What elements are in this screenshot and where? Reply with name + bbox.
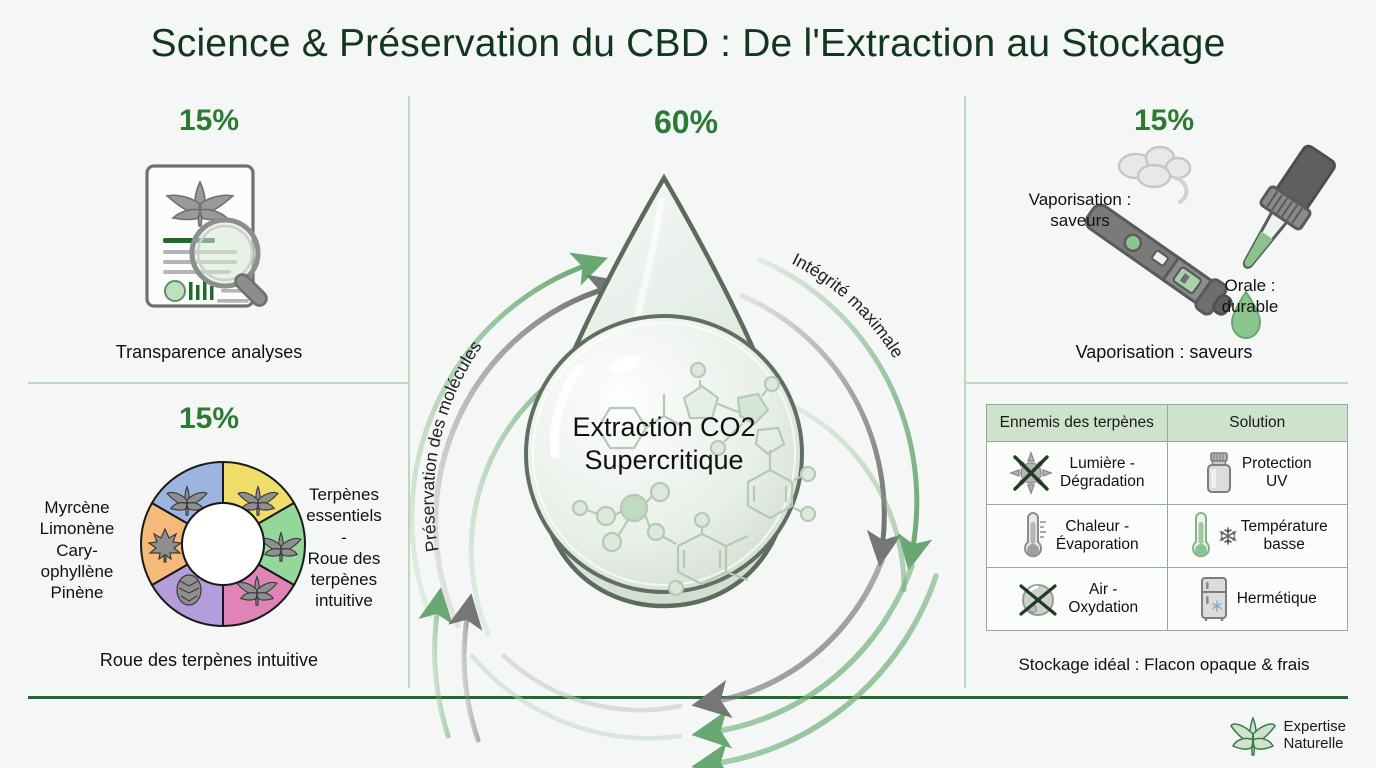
- fridge-icon: [1198, 575, 1230, 623]
- storage-caption: Stockage idéal : Flacon opaque & frais: [964, 655, 1364, 675]
- wheel-right-label: Terpènes essentiels - Roue des terpènes …: [280, 484, 408, 612]
- table-row: Lumière - Dégradation: [987, 442, 1348, 505]
- storage-table: Ennemis des terpènes Solution: [986, 404, 1348, 631]
- lab-report-magnifier-icon: [129, 158, 289, 338]
- uv-bottle-icon: [1203, 450, 1235, 496]
- drop-title-line1: Extraction CO2: [572, 412, 755, 442]
- consumption-icons: [1026, 142, 1356, 342]
- wheel-caption: Roue des terpènes intuitive: [10, 650, 408, 671]
- cell-solution-temperature: Température basse: [1167, 505, 1348, 568]
- brand-text: Expertise Naturelle: [1283, 719, 1346, 753]
- table-header-solution: Solution: [1167, 405, 1348, 442]
- sun-crossed-out-icon: [1009, 451, 1053, 495]
- thermometer-snowflake-icon: [1187, 512, 1215, 560]
- drop-title-line2: Supercritique: [584, 445, 743, 475]
- divider-vertical-left: [408, 96, 410, 688]
- infographic-root: Science & Préservation du CBD : De l'Ext…: [0, 0, 1376, 768]
- panel-transparence-analyses: 15%: [10, 100, 408, 382]
- vaporisation-label: Vaporisation : saveurs: [1015, 189, 1145, 232]
- analyses-caption: Transparence analyses: [10, 342, 408, 363]
- table-row: Chaleur - Évaporation: [987, 505, 1348, 568]
- thermometer-hot-icon: [1015, 512, 1049, 560]
- cell-solution-uv: Protection UV: [1167, 442, 1348, 505]
- cell-solution-hermetique: Hermétique: [1167, 568, 1348, 631]
- page-title: Science & Préservation du CBD : De l'Ext…: [0, 22, 1376, 66]
- table-row: Air - Oxydation: [987, 568, 1348, 631]
- orale-label: Orale : durable: [1195, 275, 1305, 318]
- arc-label-right: Intégrité maximale: [789, 249, 908, 361]
- dropper-pipette-icon: [1226, 141, 1342, 281]
- table-header-row: Ennemis des terpènes Solution: [987, 405, 1348, 442]
- cannabis-leaf-logo-icon: [1231, 716, 1275, 756]
- cell-enemy-chaleur: Chaleur - Évaporation: [987, 505, 1168, 568]
- pine-cone-icon: [177, 575, 201, 605]
- analyses-percent: 15%: [10, 104, 408, 138]
- panel-extraction-co2: 60%: [412, 100, 960, 688]
- cell-enemy-air: Air - Oxydation: [987, 568, 1168, 631]
- consumption-caption: Vaporisation : saveurs: [964, 342, 1364, 363]
- panel-vaporisation: 15%: [964, 100, 1364, 382]
- brand-logo: Expertise Naturelle: [1231, 716, 1346, 756]
- wheel-left-label: Myrcène Limonène Cary- ophyllène Pinène: [12, 497, 142, 603]
- consumption-percent: 15%: [964, 104, 1364, 138]
- cell-enemy-lumiere: Lumière - Dégradation: [987, 442, 1168, 505]
- divider-horizontal-left: [28, 382, 409, 384]
- divider-horizontal-right: [964, 382, 1348, 384]
- air-bubble-crossed-out-icon: [1015, 577, 1061, 621]
- snowflake-icon: [1218, 526, 1238, 546]
- table-header-enemies: Ennemis des terpènes: [987, 405, 1168, 442]
- wheel-percent: 15%: [10, 402, 408, 436]
- co2-extraction-droplet-icon: Extraction CO2 Supercritique Préservatio…: [412, 136, 960, 716]
